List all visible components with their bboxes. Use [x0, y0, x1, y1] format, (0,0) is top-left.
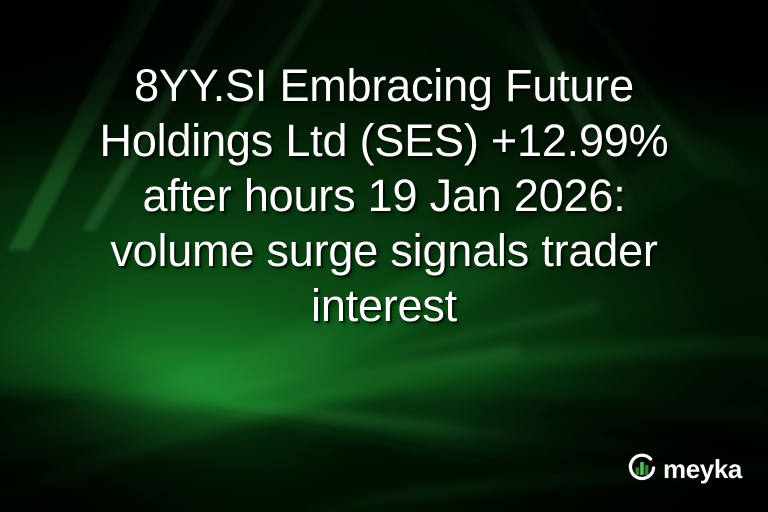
social-card-canvas: 8YY.SI Embracing Future Holdings Ltd (SE… — [0, 0, 768, 512]
headline-line-1: 8YY.SI Embracing Future — [26, 58, 742, 113]
brand-logo: meyka — [626, 452, 742, 484]
headline-line-5: interest — [26, 278, 742, 333]
meyka-wordmark: meyka — [663, 456, 742, 482]
meyka-circle-chart-icon — [626, 452, 658, 484]
headline-line-3: after hours 19 Jan 2026: — [26, 168, 742, 223]
headline-line-4: volume surge signals trader — [26, 223, 742, 278]
headline-line-2: Holdings Ltd (SES) +12.99% — [26, 113, 742, 168]
headline-block: 8YY.SI Embracing Future Holdings Ltd (SE… — [0, 58, 768, 333]
